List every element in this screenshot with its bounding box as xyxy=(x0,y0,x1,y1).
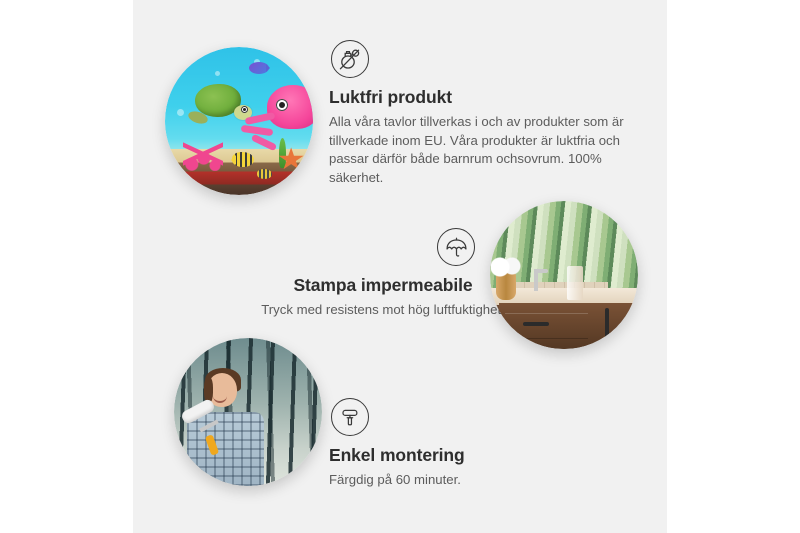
promo-banner: Luktfri produkt Alla våra tavlor tillver… xyxy=(0,0,800,533)
soap-bottle xyxy=(567,266,583,300)
bubble-icon xyxy=(177,109,184,116)
product-image-painter xyxy=(174,338,322,486)
umbrella-icon xyxy=(437,228,475,266)
octopus-illustration xyxy=(267,85,313,129)
feature-body: Färgdig på 60 minuter. xyxy=(329,471,629,490)
turtle-illustration xyxy=(195,84,241,117)
tentacle xyxy=(251,134,277,152)
blue-fish-illustration xyxy=(249,62,269,74)
plaid-shirt xyxy=(187,412,263,486)
drawer xyxy=(505,313,588,339)
feature-odorless: Luktfri produkt Alla våra tavlor tillver… xyxy=(329,40,627,187)
drawer-handle xyxy=(523,322,549,326)
person-illustration xyxy=(186,371,269,486)
faucet xyxy=(534,269,538,291)
feature-body: Alla våra tavlor tillverkas i och av pro… xyxy=(329,113,627,187)
seaweed-illustration xyxy=(279,138,286,168)
cabinet-handle xyxy=(605,308,609,338)
product-image-bathroom xyxy=(490,201,638,349)
coral-illustration xyxy=(183,137,223,171)
no-odor-perfume-bottle-icon xyxy=(331,40,369,78)
product-image-ocean xyxy=(165,47,313,195)
paint-roller-icon xyxy=(331,398,369,436)
striped-fish-illustration xyxy=(257,169,272,179)
turtle-eye-icon xyxy=(241,106,248,113)
feature-easy-mounting: Enkel montering Färgdig på 60 minuter. xyxy=(329,398,629,490)
flowers xyxy=(491,257,521,277)
feature-title: Luktfri produkt xyxy=(329,87,627,108)
bubble-icon xyxy=(215,71,220,76)
feature-title: Enkel montering xyxy=(329,445,629,466)
striped-fish-illustration xyxy=(232,152,254,167)
content-panel: Luktfri produkt Alla våra tavlor tillver… xyxy=(133,0,667,533)
octopus-eye-icon xyxy=(276,99,288,111)
